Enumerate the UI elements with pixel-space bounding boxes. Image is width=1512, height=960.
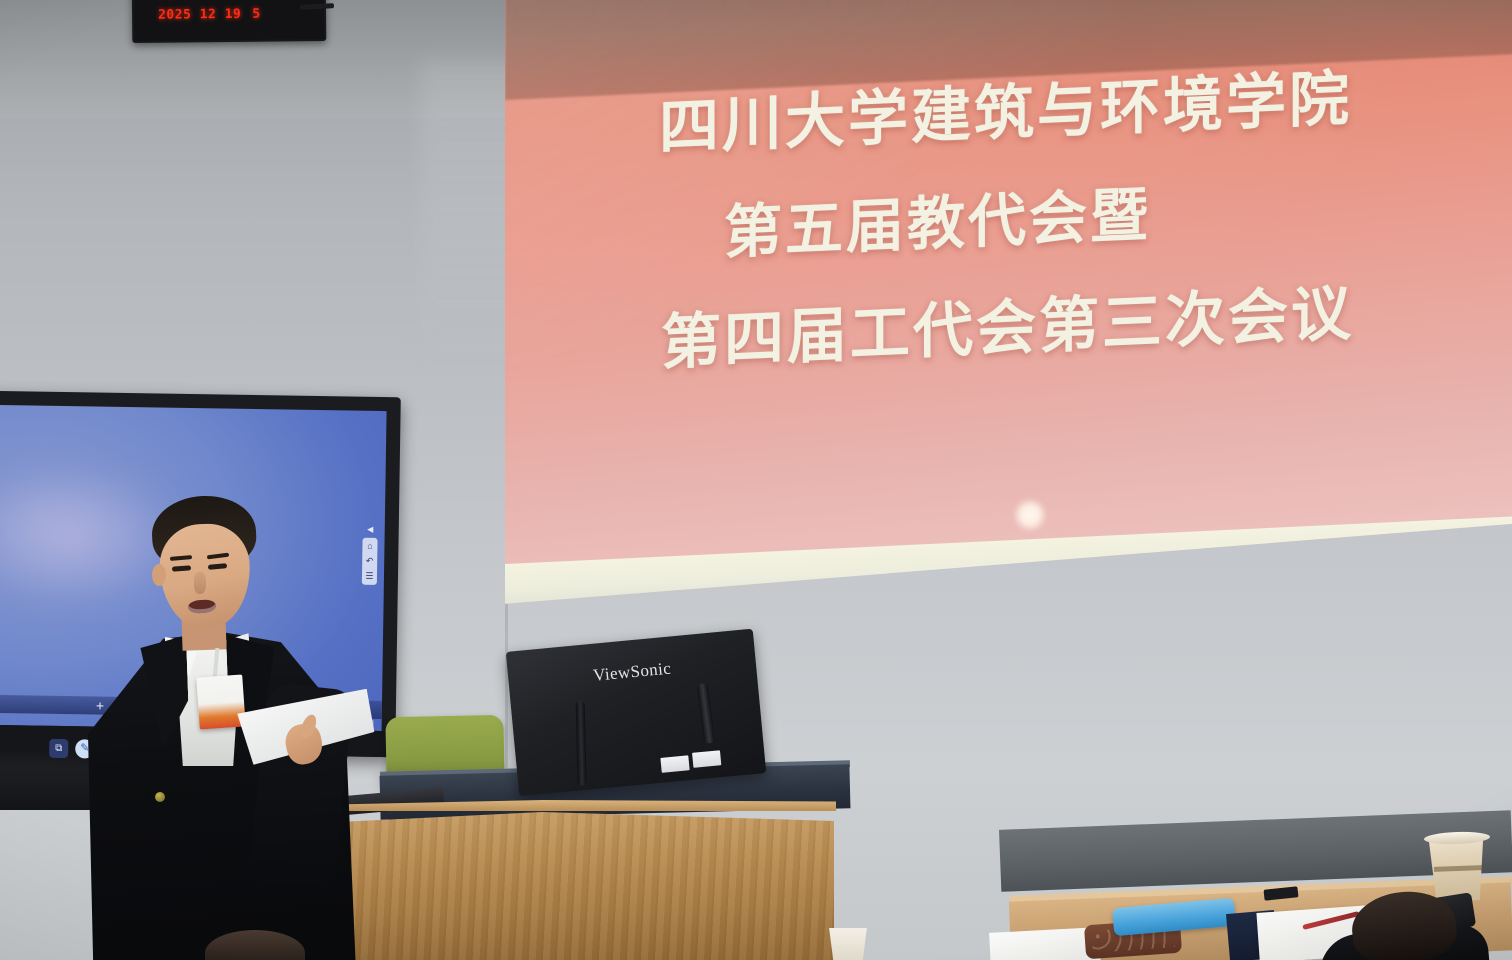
screenshot-icon[interactable]: ⧉ <box>49 739 68 758</box>
presenter-badge <box>196 674 246 729</box>
led-clock-date: 2025 12 19 <box>158 6 241 22</box>
viewsonic-monitor: ViewSonic <box>506 629 767 797</box>
projection-line-1: 四川大学建筑与环境学院 <box>505 43 1512 173</box>
monitor-brand-label: ViewSonic <box>508 651 757 694</box>
second-coffee-cup <box>827 928 869 960</box>
projection-text-block: 四川大学建筑与环境学院 第五届教代会暨 第四届工代会第三次会议 <box>505 0 1512 610</box>
presenter-ear <box>152 564 166 586</box>
led-clock-weekday: 5 <box>252 6 260 21</box>
presenter <box>90 480 360 960</box>
home-icon[interactable]: ⌂ <box>364 541 375 552</box>
whiteboard-sidebar[interactable]: ◀ ⌂ ↶ ☰ <box>361 523 379 585</box>
presenter-nose <box>194 572 206 594</box>
led-clock-date-row: 2025 12 19 5 <box>134 1 326 27</box>
monitor-cable <box>576 701 587 785</box>
screenshot-root: 31 12 °C 2025 12 19 5 四川大学建筑与环境学院 第五届教代会… <box>0 0 1512 960</box>
whiteboard-toolbar[interactable]: ⧉ ✎ <box>49 739 94 759</box>
whiteboard-sidebar-group[interactable]: ⌂ ↶ ☰ <box>362 538 378 585</box>
chevron-left-icon[interactable]: ◀ <box>364 523 377 536</box>
monitor-sticker-1 <box>660 755 689 773</box>
presenter-lapel-pin <box>155 792 165 802</box>
monitor-sticker-2 <box>692 750 721 768</box>
monitor-stand-arm <box>697 683 716 744</box>
projection-line-3: 第四届工代会第三次会议 <box>505 258 1512 388</box>
projection-screen: 四川大学建筑与环境学院 第五届教代会暨 第四届工代会第三次会议 <box>505 0 1512 610</box>
undo-icon[interactable]: ↶ <box>364 556 375 567</box>
led-wall-clock: 31 12 °C 2025 12 19 5 <box>132 0 327 43</box>
projection-line-2: 第五届教代会暨 <box>505 152 1512 279</box>
menu-icon[interactable]: ☰ <box>364 571 375 582</box>
